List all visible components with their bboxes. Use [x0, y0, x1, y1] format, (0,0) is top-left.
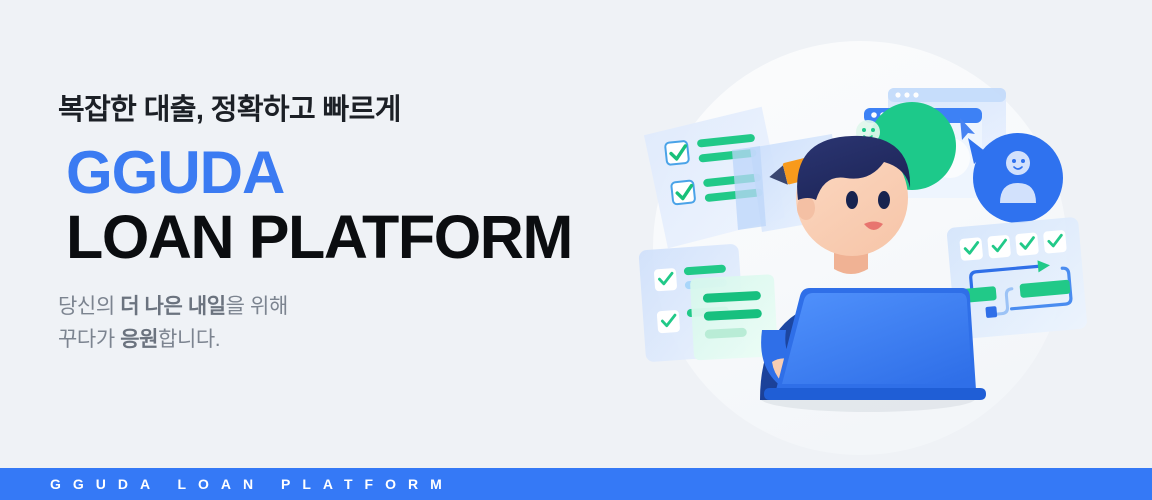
footer-marquee-bar: GGUDA LOAN PLATFORM: [0, 468, 1152, 500]
footer-marquee-text: GGUDA LOAN PLATFORM: [0, 476, 454, 492]
hero-text-block: 복잡한 대출, 정확하고 빠르게 GGUDA LOAN PLATFORM 당신의…: [58, 92, 618, 357]
subcopy-line1-strong: 더 나은 내일: [120, 295, 225, 318]
subcopy-line2-prefix: 꾸다가: [58, 328, 120, 351]
subcopy-line1-suffix: 을 위해: [226, 295, 288, 318]
hero-banner: 복잡한 대출, 정확하고 빠르게 GGUDA LOAN PLATFORM 당신의…: [0, 0, 1152, 500]
illustration-svg: [620, 0, 1152, 470]
hero-illustration: [620, 0, 1152, 470]
subcopy-line2-strong: 응원: [120, 328, 158, 351]
subcopy-line1-prefix: 당신의: [58, 295, 120, 318]
page-title: LOAN PLATFORM: [58, 205, 618, 269]
hero-subcopy-line-2: 꾸다가 응원합니다.: [58, 324, 618, 357]
hero-subcopy: 당신의 더 나은 내일을 위해 꾸다가 응원합니다.: [58, 291, 618, 356]
subcopy-line2-suffix: 합니다.: [158, 328, 220, 351]
brand-name: GGUDA: [58, 142, 618, 203]
hero-subcopy-line-1: 당신의 더 나은 내일을 위해: [58, 291, 618, 324]
hero-eyebrow: 복잡한 대출, 정확하고 빠르게: [58, 92, 618, 128]
